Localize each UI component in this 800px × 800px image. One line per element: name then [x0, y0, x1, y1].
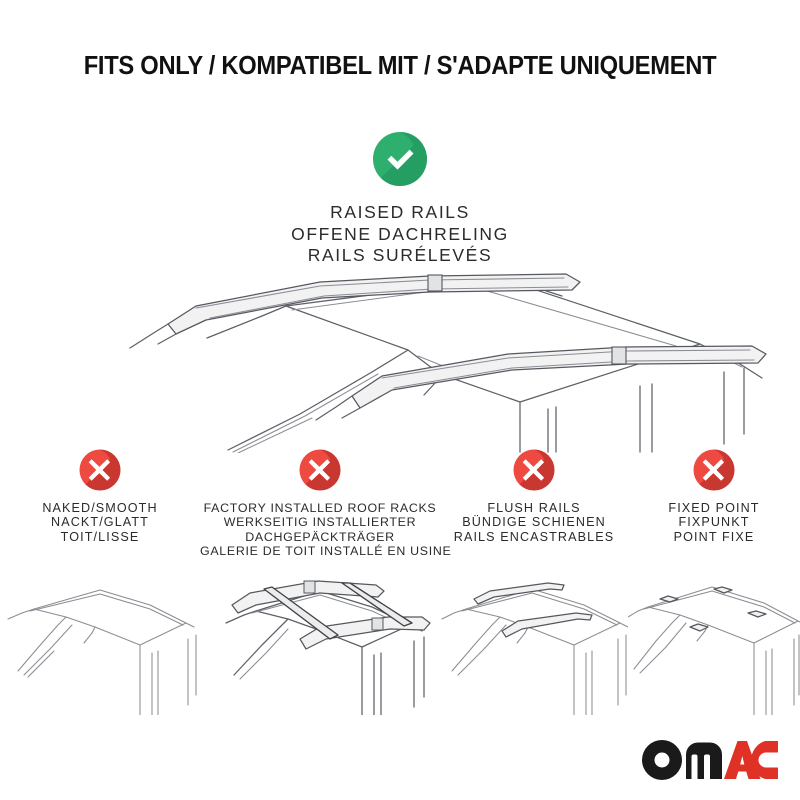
- car-roof-fixed-point-illustration: [628, 555, 800, 715]
- flush-rails-label-line-1: FLUSH RAILS: [440, 501, 628, 515]
- factory-racks-label-line-3: DACHGEPÄCKTRÄGER: [200, 530, 440, 544]
- incompatible-section-flush-rails: FLUSH RAILS BÜNDIGE SCHIENEN RAILS ENCAS…: [440, 448, 628, 715]
- fixed-point-labels: FIXED POINT FIXPUNKT POINT FIXE: [628, 501, 800, 553]
- factory-racks-status-icon-wrap: [200, 448, 440, 496]
- compatible-status-icon-wrap: [0, 130, 800, 192]
- naked-smooth-label-line-1: NAKED/SMOOTH: [0, 501, 200, 515]
- incompatible-sections: NAKED/SMOOTH NACKT/GLATT TOIT/LISSE: [0, 448, 800, 715]
- omac-logo: [642, 740, 778, 780]
- incompatible-section-factory-racks: FACTORY INSTALLED ROOF RACKS WERKSEITIG …: [200, 448, 440, 715]
- incompatible-section-fixed-point: FIXED POINT FIXPUNKT POINT FIXE: [628, 448, 800, 715]
- car-roof-naked-smooth-illustration: [0, 555, 200, 715]
- naked-smooth-status-icon-wrap: [0, 448, 200, 496]
- car-roof-factory-racks-illustration: [200, 555, 440, 715]
- cross-circle-icon: [692, 448, 736, 492]
- compatible-label-line-2: OFFENE DACHRELING: [0, 224, 800, 246]
- car-roof-raised-rails-illustration: [0, 268, 800, 453]
- compatible-label-line-1: RAISED RAILS: [0, 202, 800, 224]
- flush-rails-label-line-2: BÜNDIGE SCHIENEN: [440, 515, 628, 529]
- flush-rails-status-icon-wrap: [440, 448, 628, 496]
- fixed-point-label-line-1: FIXED POINT: [628, 501, 800, 515]
- cross-circle-icon: [298, 448, 342, 492]
- check-circle-icon: [371, 130, 429, 188]
- incompatible-section-naked-smooth: NAKED/SMOOTH NACKT/GLATT TOIT/LISSE: [0, 448, 200, 715]
- fixed-point-label-line-2: FIXPUNKT: [628, 515, 800, 529]
- fixed-point-status-icon-wrap: [628, 448, 800, 496]
- factory-racks-label-line-1: FACTORY INSTALLED ROOF RACKS: [200, 501, 440, 515]
- car-roof-flush-rails-illustration: [440, 555, 628, 715]
- naked-smooth-label-line-2: NACKT/GLATT: [0, 515, 200, 529]
- naked-smooth-labels: NAKED/SMOOTH NACKT/GLATT TOIT/LISSE: [0, 501, 200, 553]
- cross-circle-icon: [78, 448, 122, 492]
- flush-rails-labels: FLUSH RAILS BÜNDIGE SCHIENEN RAILS ENCAS…: [440, 501, 628, 553]
- compatible-section: RAISED RAILS OFFENE DACHRELING RAILS SUR…: [0, 130, 800, 267]
- compatible-labels: RAISED RAILS OFFENE DACHRELING RAILS SUR…: [0, 202, 800, 267]
- naked-smooth-label-line-3: TOIT/LISSE: [0, 530, 200, 544]
- page-title: FITS ONLY / KOMPATIBEL MIT / S'ADAPTE UN…: [28, 52, 772, 81]
- factory-racks-label-line-4: GALERIE DE TOIT INSTALLÉ EN USINE: [200, 544, 440, 558]
- factory-racks-label-line-2: WERKSEITIG INSTALLIERTER: [200, 515, 440, 529]
- cross-circle-icon: [512, 448, 556, 492]
- fixed-point-label-line-3: POINT FIXE: [628, 530, 800, 544]
- factory-racks-labels: FACTORY INSTALLED ROOF RACKS WERKSEITIG …: [200, 501, 440, 553]
- compatible-label-line-3: RAILS SURÉLEVÉS: [0, 245, 800, 267]
- flush-rails-label-line-3: RAILS ENCASTRABLES: [440, 530, 628, 544]
